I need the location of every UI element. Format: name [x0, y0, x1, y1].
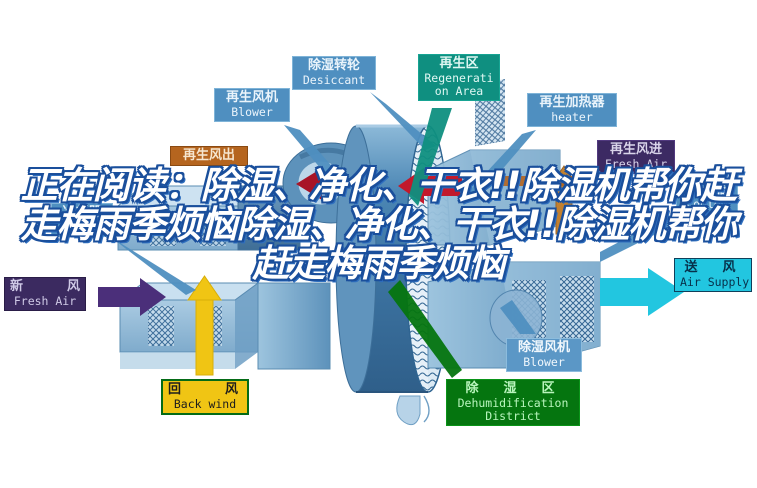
label-en: Fresh Air: [603, 158, 669, 170]
label-cn: 除湿转轮: [298, 59, 370, 73]
label-en: Blower: [512, 356, 576, 368]
label-cn: 除湿风机: [512, 341, 576, 355]
label-cn: 除 湿 区: [452, 382, 574, 396]
label-cn: 再生风机: [220, 91, 284, 105]
schematic-diagram: 除湿转轮 Desiccant 再生风机 Blower 再生区 Regenerat…: [0, 0, 757, 488]
label-cn: 送 风: [680, 261, 746, 275]
label-cn: 回 风: [168, 383, 242, 397]
label-fresh-air: 新 风 Fresh Air: [4, 277, 86, 311]
label-regeneration-heater: 再生加热器 heater: [527, 93, 617, 127]
label-en-line1: Regenerati: [424, 72, 494, 84]
label-cn: 再生风进: [603, 143, 669, 157]
label-cooler-right: 冷却器 Cooler: [676, 180, 738, 214]
label-en: Fresh Air: [10, 295, 80, 307]
label-regeneration-air-in: 再生风进 Fresh Air: [597, 140, 675, 174]
label-en: heater: [533, 111, 611, 123]
label-regeneration-area: 再生区 Regenerati on Area: [418, 54, 500, 101]
dehumidifier-schematic-artwork: [0, 0, 757, 488]
label-regeneration-blower: 再生风机 Blower: [214, 88, 290, 122]
label-cn: 再生加热器: [533, 96, 611, 110]
label-cn: 再生区: [424, 57, 494, 71]
label-cn: 冷却器: [57, 206, 107, 220]
label-cn: 再生风出: [176, 149, 242, 163]
label-en: Air Supply: [680, 276, 746, 288]
label-regeneration-air-out: 再生风出: [170, 146, 248, 166]
label-dehumidification-blower: 除湿风机 Blower: [506, 338, 582, 372]
label-en: Back wind: [168, 398, 242, 410]
label-desiccant-rotor: 除湿转轮 Desiccant: [292, 56, 376, 90]
label-cn: 冷却器: [682, 183, 732, 197]
label-en-line2: District: [452, 410, 574, 422]
label-back-wind: 回 风 Back wind: [161, 379, 249, 415]
label-cn: 新 风: [10, 280, 80, 294]
label-cooler-left: 冷却器 Cooler: [51, 203, 113, 237]
label-en-line1: Dehumidification: [452, 397, 574, 409]
label-en: Cooler: [682, 198, 732, 210]
label-air-supply: 送 风 Air Supply: [674, 258, 752, 292]
label-en: Cooler: [57, 221, 107, 233]
label-en-line2: on Area: [424, 85, 494, 97]
label-en: Blower: [220, 106, 284, 118]
label-en: Desiccant: [298, 74, 370, 86]
label-dehumidification-district: 除 湿 区 Dehumidification District: [446, 379, 580, 426]
